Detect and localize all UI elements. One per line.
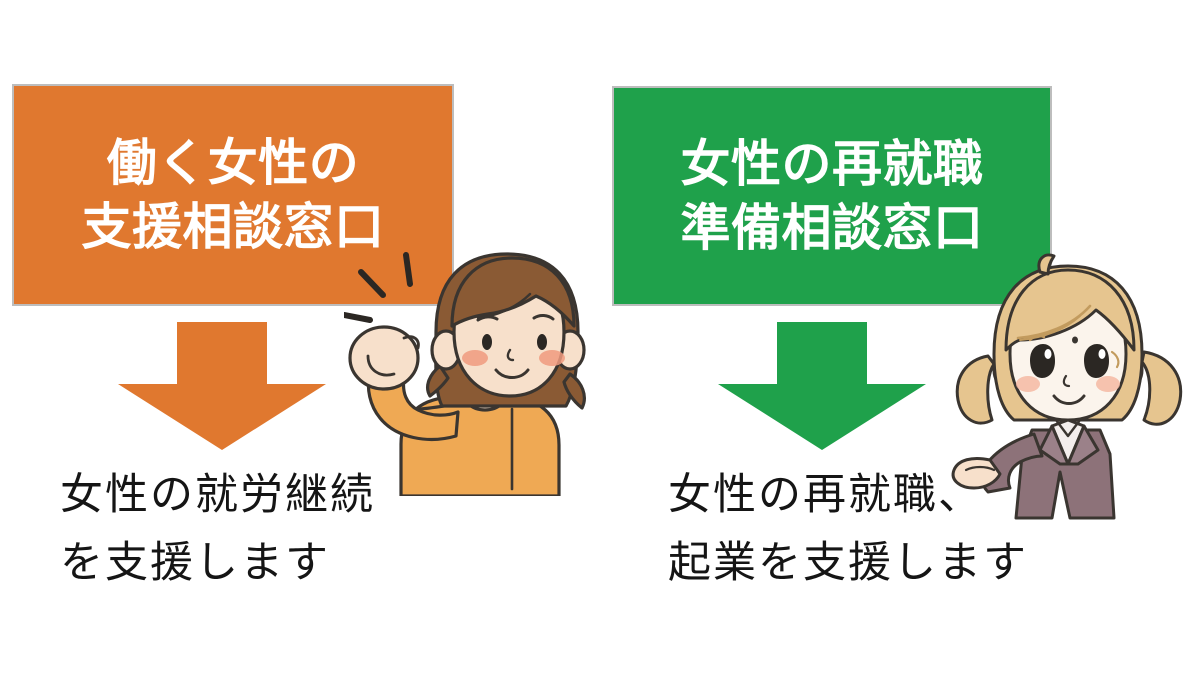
down-arrow-icon-orange xyxy=(118,322,326,455)
illustration-woman-fist-pump xyxy=(344,246,608,501)
caption-right-line-2: 起業を支援します xyxy=(668,530,1028,598)
illustration-woman-business-suit xyxy=(944,248,1194,533)
banner-right-line-2: 準備相談窓口 xyxy=(681,196,984,260)
caption-left-line-2: を支援します xyxy=(60,530,375,598)
banner-right-line-1: 女性の再就職 xyxy=(681,132,984,196)
caption-left-line-1: 女性の就労継続 xyxy=(60,462,375,530)
banner-left-line-1: 働く女性の xyxy=(107,131,360,195)
poster-canvas: 働く女性の 支援相談窓口 女性の再就職 準備相談窓口 女性の就労継続 を支援しま… xyxy=(0,0,1200,675)
caption-left: 女性の就労継続 を支援します xyxy=(60,462,375,598)
down-arrow-icon-green xyxy=(718,322,926,455)
banner-left-line-2: 支援相談窓口 xyxy=(82,195,385,259)
motion-lines-icon xyxy=(344,255,410,320)
